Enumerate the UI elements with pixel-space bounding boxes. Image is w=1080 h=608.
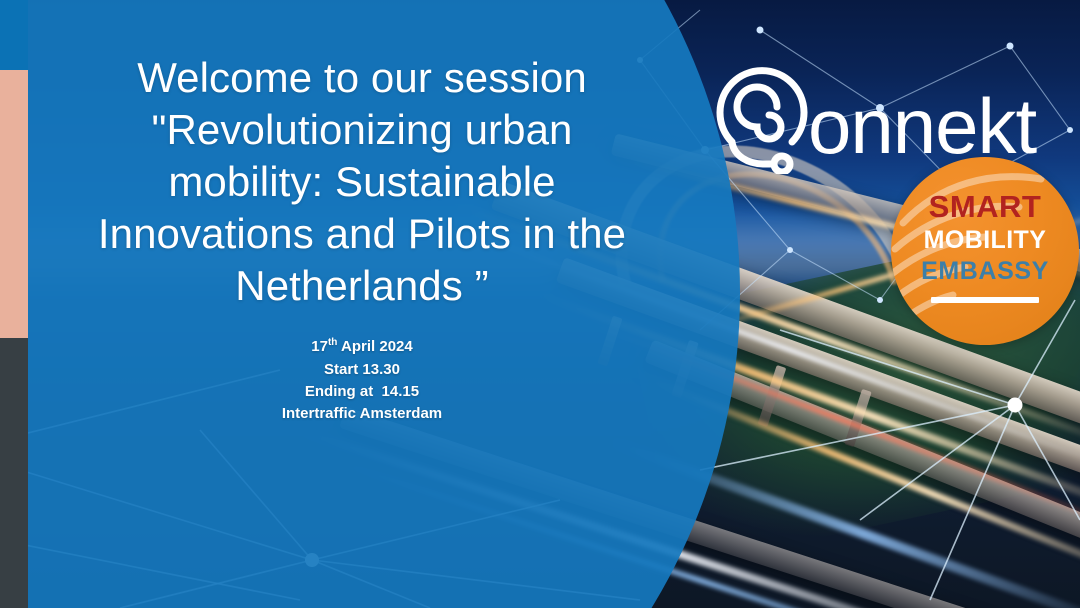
session-start-time: Start 13.30 [92,359,632,381]
title-line: "Revolutionizing urban [92,104,632,156]
session-date: 17th April 2024 [92,336,632,358]
session-end-time: Ending at 14.15 [92,381,632,403]
title-block: Welcome to our session "Revolutionizing … [92,52,632,425]
badge-line-embassy: EMBASSY [891,259,1079,284]
smart-mobility-embassy-badge: SMART MOBILITY EMBASSY [891,157,1079,345]
session-venue: Intertraffic Amsterdam [92,403,632,425]
session-details: 17th April 2024 Start 13.30 Ending at 14… [92,336,632,425]
connekt-spiral-mark [704,56,816,174]
connekt-wordmark: onnekt [808,87,1036,165]
title-line: Innovations and Pilots in the [92,208,632,260]
date-rest: April 2024 [337,338,412,355]
badge-line-mobility: MOBILITY [891,228,1079,253]
accent-strip-blue [0,0,28,70]
date-ordinal: th [328,337,337,348]
title-line: mobility: Sustainable [92,156,632,208]
badge-text: SMART MOBILITY EMBASSY [891,191,1079,303]
date-day: 17 [311,338,328,355]
connekt-dot [774,156,790,172]
accent-strip-charcoal [0,338,28,608]
title-line: Welcome to our session [92,52,632,104]
badge-line-smart: SMART [891,191,1079,222]
accent-strip-peach [0,70,28,338]
page-title: Welcome to our session "Revolutionizing … [92,52,632,312]
presentation-slide: Welcome to our session "Revolutionizing … [0,0,1080,608]
badge-underline-bar [931,297,1039,303]
title-line: Netherlands ” [92,260,632,312]
